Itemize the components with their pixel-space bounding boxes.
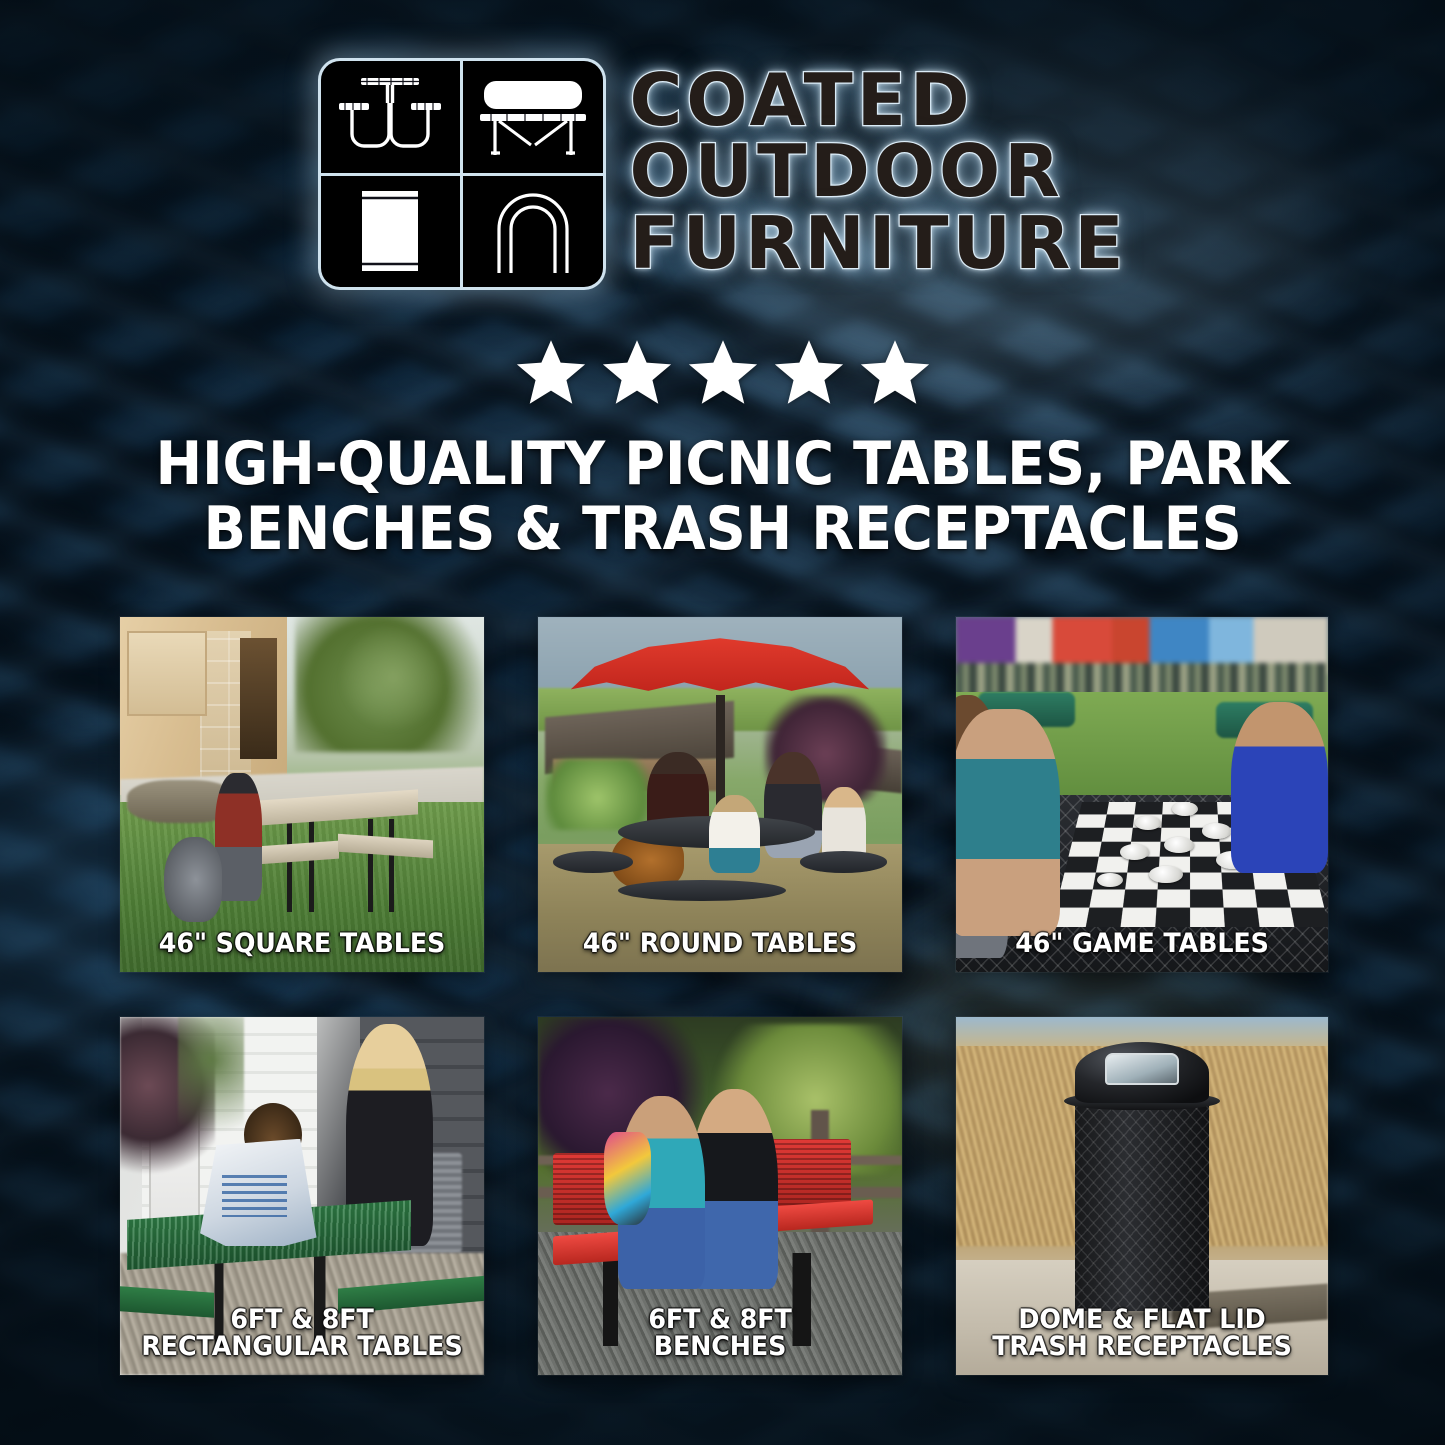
bike-rack-icon (463, 176, 603, 288)
logo-icon-grid (318, 58, 606, 290)
star-icon (602, 338, 672, 406)
tile-caption: DOME & FLAT LID TRASH RECEPTACLES (975, 1306, 1310, 1361)
caption-line-1: 46" ROUND TABLES (556, 930, 883, 958)
product-tile-trash-receptacles[interactable]: DOME & FLAT LID TRASH RECEPTACLES (956, 1017, 1328, 1375)
tile-caption: 46" ROUND TABLES (556, 930, 883, 958)
headline-line-1: HIGH-QUALITY PICNIC TABLES, PARK (106, 432, 1338, 497)
tile-caption: 6FT & 8FT BENCHES (556, 1306, 883, 1361)
product-tile-benches[interactable]: 6FT & 8FT BENCHES (538, 1017, 902, 1375)
product-tile-game-tables[interactable]: 46" GAME TABLES (956, 617, 1328, 972)
caption-line-1: DOME & FLAT LID (975, 1306, 1310, 1334)
trash-receptacle-icon (321, 176, 461, 288)
product-tile-rectangular-tables[interactable]: 6FT & 8FT RECTANGULAR TABLES (120, 1017, 484, 1375)
page-title: HIGH-QUALITY PICNIC TABLES, PARK BENCHES… (106, 432, 1338, 562)
tile-caption: 46" SQUARE TABLES (138, 930, 465, 958)
photo-game-tables (956, 617, 1328, 972)
brand-logo: COATED OUTDOOR FURNITURE (0, 58, 1445, 290)
star-icon (516, 338, 586, 406)
product-tile-round-tables[interactable]: 46" ROUND TABLES (538, 617, 902, 972)
photo-square-tables (120, 617, 484, 972)
caption-line-1: 46" GAME TABLES (975, 930, 1310, 958)
brand-word-2: OUTDOOR (630, 137, 1128, 206)
product-grid: 46" SQUARE TABLES (120, 617, 1334, 1375)
headline-line-2: BENCHES & TRASH RECEPTACLES (106, 497, 1338, 562)
brand-word-1: COATED (630, 66, 1128, 135)
caption-line-2: TRASH RECEPTACLES (975, 1333, 1310, 1361)
product-tile-square-tables[interactable]: 46" SQUARE TABLES (120, 617, 484, 972)
promo-graphic: COATED OUTDOOR FURNITURE HIGH-QUALITY PI… (0, 0, 1445, 1445)
picnic-table-icon (321, 61, 461, 173)
bench-table-icon (463, 61, 603, 173)
tile-caption: 6FT & 8FT RECTANGULAR TABLES (138, 1306, 465, 1361)
star-rating (0, 338, 1445, 406)
brand-word-3: FURNITURE (630, 209, 1128, 278)
brand-wordmark: COATED OUTDOOR FURNITURE (630, 66, 1128, 281)
caption-line-1: 6FT & 8FT (138, 1306, 465, 1334)
caption-line-1: 6FT & 8FT (556, 1306, 883, 1334)
star-icon (774, 338, 844, 406)
tile-caption: 46" GAME TABLES (975, 930, 1310, 958)
photo-round-tables (538, 617, 902, 972)
star-icon (860, 338, 930, 406)
star-icon (688, 338, 758, 406)
caption-line-2: RECTANGULAR TABLES (138, 1333, 465, 1361)
caption-line-1: 46" SQUARE TABLES (138, 930, 465, 958)
caption-line-2: BENCHES (556, 1333, 883, 1361)
